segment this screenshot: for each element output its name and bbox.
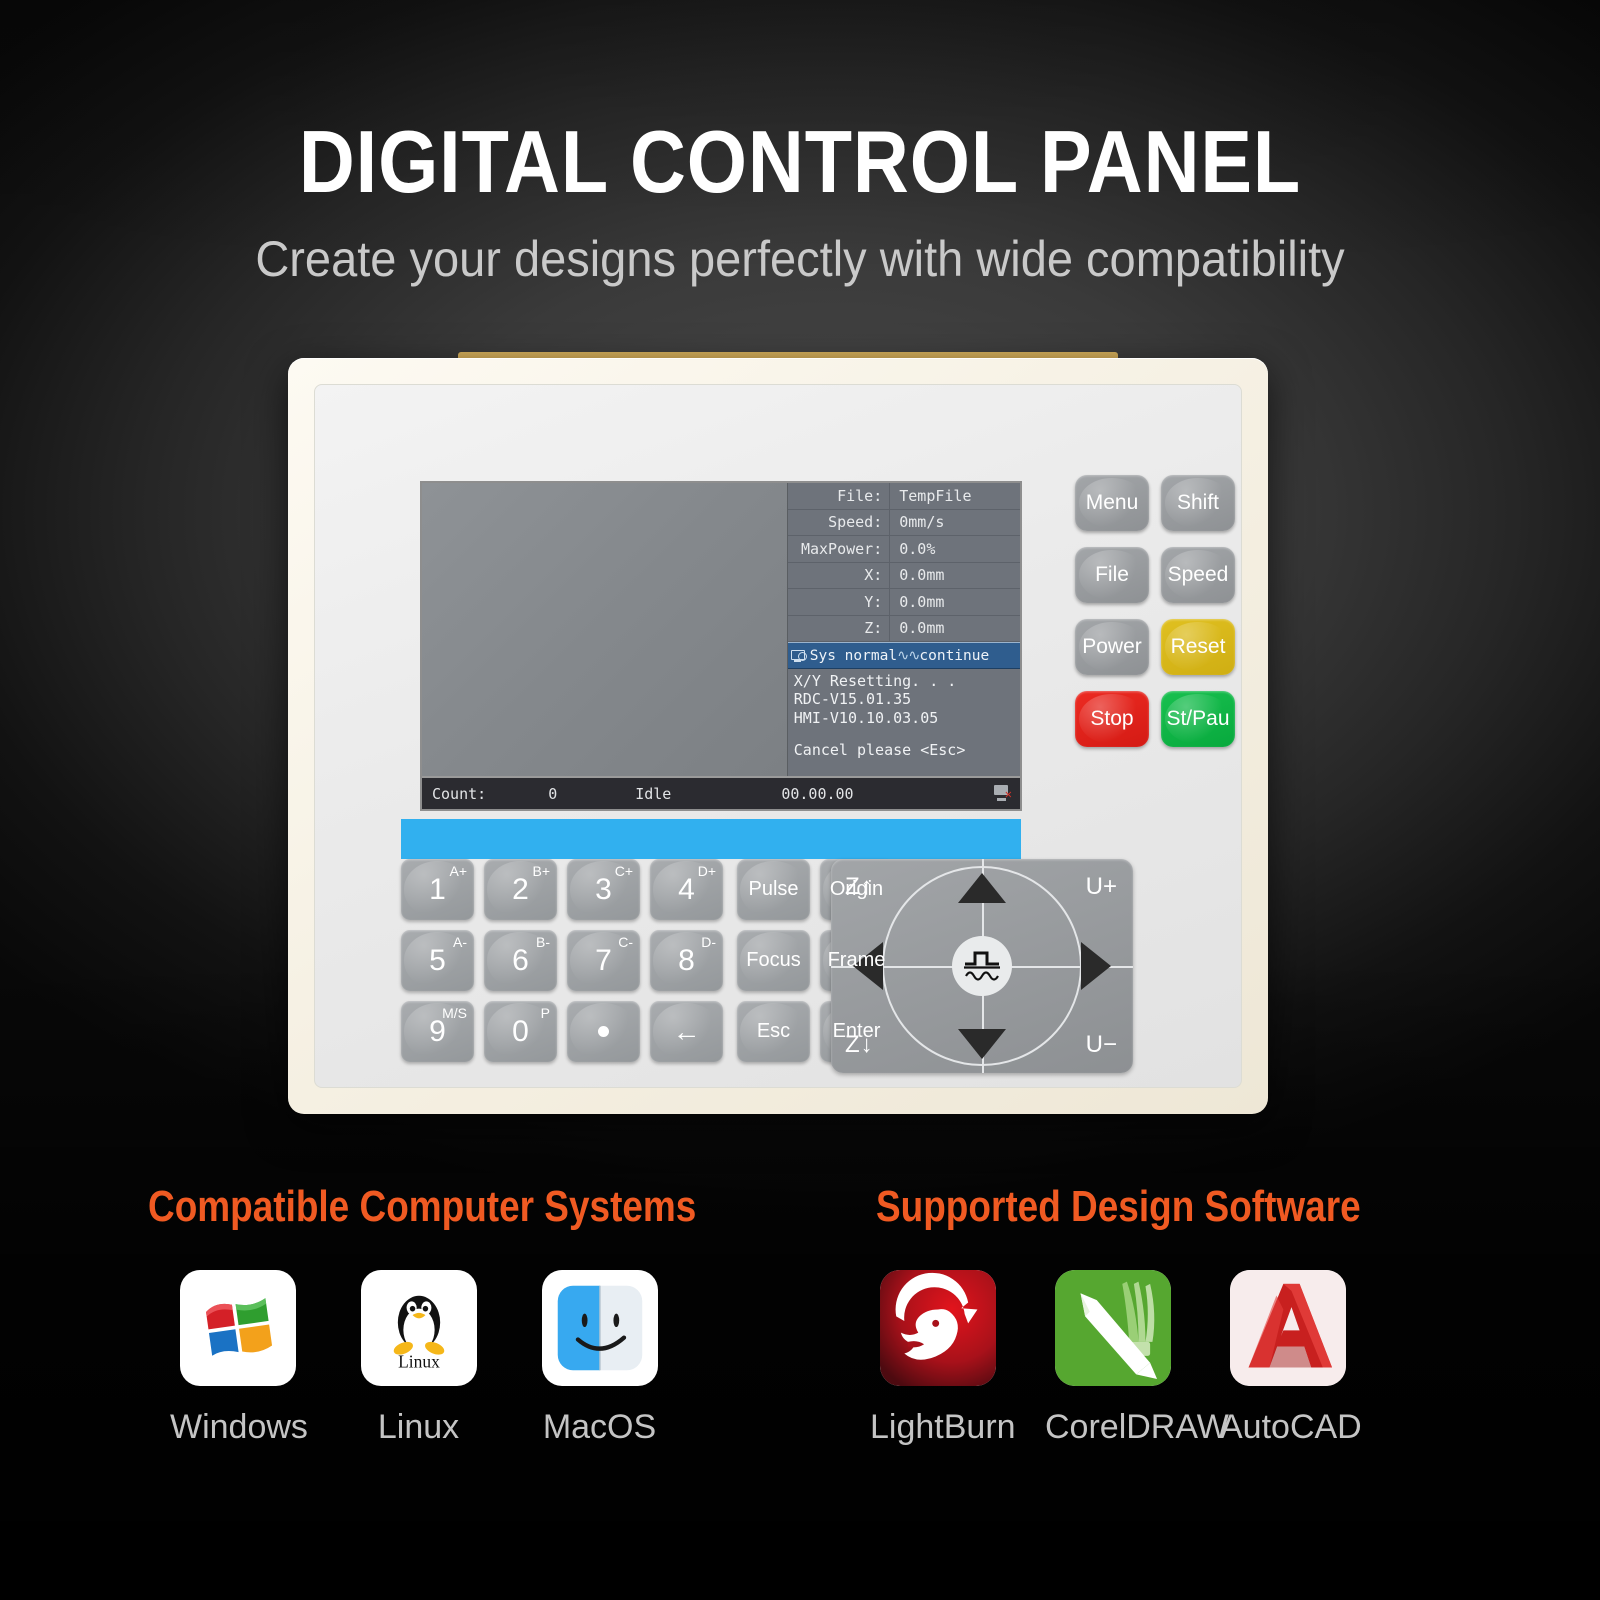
function-button-cluster: Menu Shift File Speed Power Reset Stop S…	[1075, 475, 1235, 763]
pulse-wave-icon	[960, 946, 1004, 986]
autocad-logo	[1230, 1270, 1346, 1386]
logo-item-windows: Windows	[170, 1270, 305, 1447]
windows-logo-tile	[180, 1270, 296, 1386]
key-sup: C-	[618, 934, 633, 950]
key-label: 6	[512, 944, 529, 978]
u-plus-button[interactable]: U+	[1086, 873, 1117, 901]
key-label: 8	[678, 944, 695, 978]
shift-button[interactable]: Shift	[1161, 475, 1235, 531]
page-subtitle: Create your designs perfectly with wide …	[48, 232, 1552, 287]
key-3[interactable]: C+3	[567, 859, 640, 920]
dpad-right-arrow-icon[interactable]	[1081, 942, 1111, 990]
info-value: 0mm/s	[890, 510, 1020, 536]
key-label: 7	[595, 944, 612, 978]
info-row: MaxPower: 0.0%	[788, 536, 1020, 563]
info-value: 0.0mm	[890, 563, 1020, 589]
machine-state: Idle	[635, 785, 671, 803]
info-label: Y:	[788, 589, 890, 615]
logo-caption: AutoCAD	[1220, 1408, 1355, 1447]
info-value: 0.0mm	[890, 589, 1020, 615]
wave-glyph: ∿∿	[897, 648, 919, 664]
windows-logo	[192, 1282, 284, 1374]
info-label: Z:	[788, 616, 890, 642]
key-sup: B+	[532, 863, 550, 879]
system-status-bar: Sys normal ∿∿ continue	[788, 642, 1020, 669]
key-7[interactable]: C-7	[567, 930, 640, 991]
sys-status-right: continue	[919, 648, 989, 664]
key-label: 1	[429, 873, 446, 907]
key-sup: D-	[701, 934, 716, 950]
operation-keypad: Pulse Origin Focus Frame Esc Enter	[737, 859, 893, 1062]
key-sup: A+	[449, 863, 467, 879]
dpad-up-arrow-icon[interactable]	[958, 873, 1006, 903]
dpad-center-pulse-button[interactable]	[952, 936, 1012, 996]
section-title-compatible-systems: Compatible Computer Systems	[148, 1182, 696, 1232]
coreldraw-logo	[1055, 1270, 1171, 1386]
key-label: 5	[429, 944, 446, 978]
lcd-screen: File: TempFile Speed: 0mm/s MaxPower: 0.…	[420, 481, 1022, 811]
key-label: 0	[512, 1015, 529, 1049]
coreldraw-logo-tile	[1055, 1270, 1171, 1386]
origin-label: Origin	[830, 878, 883, 901]
logo-item-linux: Linux Linux	[351, 1270, 486, 1447]
key-sup: B-	[536, 934, 550, 950]
key-sup: P	[541, 1005, 550, 1021]
macos-logo-tile	[542, 1270, 658, 1386]
message-line: HMI-V10.10.03.05	[794, 709, 1020, 727]
key-label: 4	[678, 873, 695, 907]
key-1[interactable]: A+1	[401, 859, 474, 920]
info-row: Z: 0.0mm	[788, 616, 1020, 643]
power-button[interactable]: Power	[1075, 619, 1149, 675]
sys-status-left: Sys normal	[810, 648, 897, 664]
key-6[interactable]: B-6	[484, 930, 557, 991]
focus-label: Focus	[746, 949, 800, 972]
key-8[interactable]: D-8	[650, 930, 723, 991]
message-area: X/Y Resetting. . . RDC-V15.01.35 HMI-V10…	[788, 669, 1020, 776]
info-row: Speed: 0mm/s	[788, 510, 1020, 537]
key-label: 2	[512, 873, 529, 907]
device-bezel: File: TempFile Speed: 0mm/s MaxPower: 0.…	[288, 358, 1268, 1114]
info-label: Speed:	[788, 510, 890, 536]
logo-item-lightburn: LightBurn	[870, 1270, 1005, 1447]
cancel-hint: Cancel please <Esc>	[794, 741, 1020, 759]
info-value: 0.0%	[890, 536, 1020, 562]
protective-film-strip	[401, 819, 1021, 859]
logo-caption: Windows	[170, 1408, 305, 1447]
focus-button[interactable]: Focus	[737, 930, 810, 991]
start-pause-button[interactable]: St/Pau	[1161, 691, 1235, 747]
bottom-status-bar: Count: 0 Idle 00.00.00 ✕	[422, 776, 1020, 809]
device-face: File: TempFile Speed: 0mm/s MaxPower: 0.…	[314, 384, 1242, 1088]
speed-button[interactable]: Speed	[1161, 547, 1235, 603]
message-line: X/Y Resetting. . .	[794, 672, 1020, 690]
frame-label: Frame	[828, 949, 886, 972]
info-label: MaxPower:	[788, 536, 890, 562]
section-title-supported-software: Supported Design Software	[876, 1182, 1361, 1232]
esc-button[interactable]: Esc	[737, 1001, 810, 1062]
file-button[interactable]: File	[1075, 547, 1149, 603]
logo-item-coreldraw: CorelDRAW	[1045, 1270, 1180, 1447]
menu-button[interactable]: Menu	[1075, 475, 1149, 531]
key-label: 9	[429, 1015, 446, 1049]
key-5[interactable]: A-5	[401, 930, 474, 991]
stop-button[interactable]: Stop	[1075, 691, 1149, 747]
autocad-logo-tile	[1230, 1270, 1346, 1386]
key-0[interactable]: P0	[484, 1001, 557, 1062]
work-area-canvas	[422, 483, 788, 776]
esc-label: Esc	[757, 1020, 790, 1043]
count-label: Count:	[432, 785, 486, 803]
info-panel: File: TempFile Speed: 0mm/s MaxPower: 0.…	[788, 483, 1020, 776]
dot-icon	[598, 1026, 609, 1037]
count-value: 0	[548, 785, 557, 803]
logo-item-autocad: AutoCAD	[1220, 1270, 1355, 1447]
info-row: X: 0.0mm	[788, 563, 1020, 590]
supported-software-logos: LightBurn CorelDRAW	[870, 1270, 1355, 1447]
key-4[interactable]: D+4	[650, 859, 723, 920]
info-label: File:	[788, 483, 890, 509]
key-sup: D+	[698, 863, 716, 879]
lightburn-dragon-logo	[880, 1270, 996, 1386]
svg-text:Linux: Linux	[398, 1352, 440, 1372]
linux-tux-logo: Linux	[373, 1282, 465, 1374]
logo-caption: CorelDRAW	[1045, 1408, 1180, 1447]
key-9[interactable]: M/S9	[401, 1001, 474, 1062]
pulse-label: Pulse	[748, 878, 798, 901]
page-title: DIGITAL CONTROL PANEL	[96, 118, 1504, 206]
compatible-systems-logos: Windows Linux Linux	[170, 1270, 667, 1447]
info-label: X:	[788, 563, 890, 589]
backspace-arrow-icon: ←	[673, 1016, 701, 1048]
key-label: 3	[595, 873, 612, 907]
key-sup: C+	[615, 863, 633, 879]
control-panel-device: File: TempFile Speed: 0mm/s MaxPower: 0.…	[288, 352, 1268, 1114]
key-2[interactable]: B+2	[484, 859, 557, 920]
info-row: Y: 0.0mm	[788, 589, 1020, 616]
u-minus-button[interactable]: U−	[1086, 1031, 1117, 1059]
enter-label: Enter	[833, 1020, 881, 1043]
u-minus-label: U−	[1086, 1031, 1117, 1059]
key-sup: A-	[453, 934, 467, 950]
u-plus-label: U+	[1086, 873, 1117, 901]
message-line: RDC-V15.01.35	[794, 690, 1020, 708]
macos-finder-logo	[552, 1280, 648, 1376]
elapsed-time: 00.00.00	[781, 785, 853, 803]
monitor-check-icon	[791, 650, 806, 662]
logo-caption: LightBurn	[870, 1408, 1005, 1447]
lightburn-logo-tile	[880, 1270, 996, 1386]
info-value: 0.0mm	[890, 616, 1020, 642]
logo-caption: MacOS	[532, 1408, 667, 1447]
reset-button[interactable]: Reset	[1161, 619, 1235, 675]
dpad-down-arrow-icon[interactable]	[958, 1029, 1006, 1059]
connection-error-icon: ✕	[994, 785, 1012, 801]
logo-caption: Linux	[351, 1408, 486, 1447]
info-row: File: TempFile	[788, 483, 1020, 510]
linux-logo-tile: Linux	[361, 1270, 477, 1386]
key-decimal-point[interactable]	[567, 1001, 640, 1062]
numeric-keypad: A+1 B+2 C+3 D+4 A-5 B-6 C-7 D-8 M/S9 P0 …	[401, 859, 723, 1062]
keypad: A+1 B+2 C+3 D+4 A-5 B-6 C-7 D-8 M/S9 P0 …	[401, 859, 893, 1062]
info-value: TempFile	[890, 483, 1020, 509]
pulse-button[interactable]: Pulse	[737, 859, 810, 920]
key-backspace[interactable]: ←	[650, 1001, 723, 1062]
logo-item-macos: MacOS	[532, 1270, 667, 1447]
